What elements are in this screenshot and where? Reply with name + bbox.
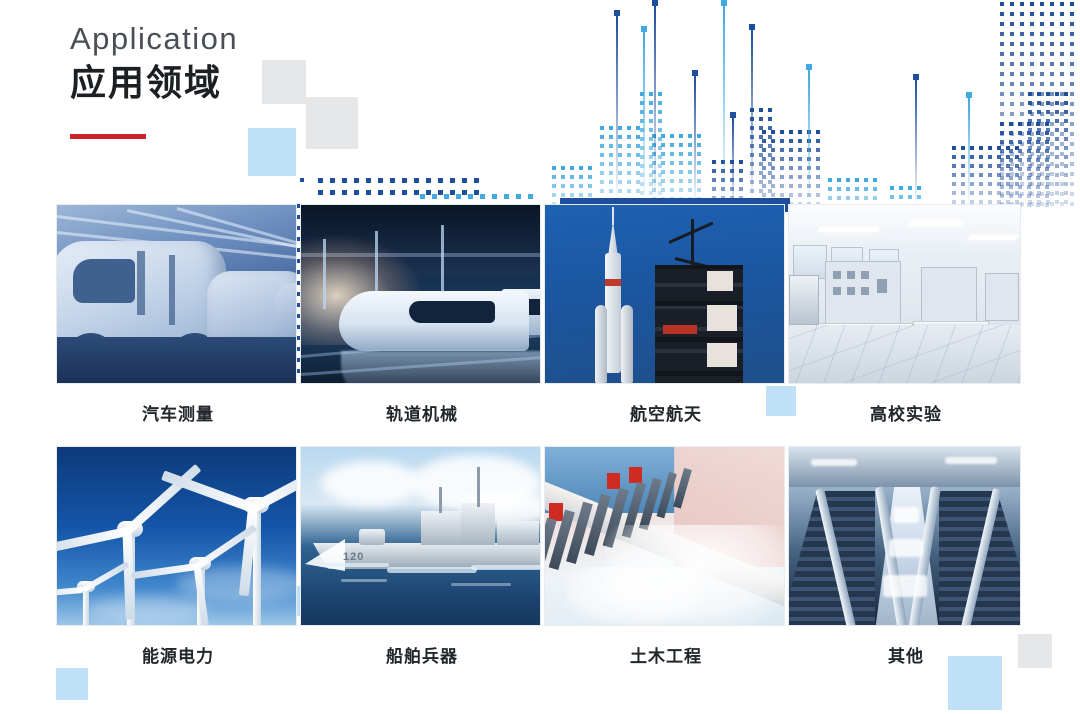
university-laboratory-image	[788, 204, 1021, 384]
skyline-dot-tower	[640, 92, 668, 212]
application-card-energy[interactable]: 能源电力	[56, 446, 300, 667]
card-caption: 轨道机械	[300, 400, 544, 425]
card-row-1: 汽车测量	[56, 204, 1024, 425]
skyline-dot-tower	[762, 130, 822, 212]
deco-square-gray-1	[262, 60, 306, 104]
card-caption: 高校实验	[788, 400, 1024, 425]
skyline-dot-tower	[1000, 122, 1050, 212]
skyline-antenna-spire	[751, 24, 753, 212]
skyline-antenna-spire	[654, 0, 656, 212]
application-card-civil[interactable]: 土木工程	[544, 446, 788, 667]
application-card-car[interactable]: 汽车测量	[56, 204, 300, 425]
skyline-dot-tower	[1028, 92, 1076, 212]
application-card-train[interactable]: 轨道机械	[300, 204, 544, 425]
deco-square-blue-4	[56, 668, 88, 700]
card-caption: 土木工程	[544, 642, 788, 667]
rocket-launch-pad-image	[544, 204, 785, 384]
slide-canvas: Application 应用领域	[0, 0, 1080, 714]
skyline-antenna-spire	[723, 0, 725, 212]
skyline-dot-tower	[652, 134, 708, 212]
card-caption: 汽车测量	[56, 400, 300, 425]
page-title-english: Application	[70, 22, 238, 56]
naval-destroyer-image: 120	[300, 446, 541, 626]
ship-hull-number: 120	[343, 551, 364, 563]
skyline-dot-tower	[1000, 2, 1076, 212]
skyline-dot-tower	[600, 126, 644, 212]
skyline-antenna-spire	[694, 70, 696, 212]
application-card-ship[interactable]: 120 船舶兵器	[300, 446, 544, 667]
skyline-dot-tower	[750, 108, 780, 212]
application-card-other[interactable]: 其他	[788, 446, 1024, 667]
high-speed-train-image	[300, 204, 541, 384]
card-caption: 能源电力	[56, 642, 300, 667]
deco-square-gray-2	[306, 97, 358, 149]
application-card-grid: 汽车测量	[56, 204, 1024, 667]
skyline-antenna-spire	[732, 112, 734, 212]
page-title-chinese: 应用领域	[70, 60, 238, 105]
skyline-dot-tower	[952, 146, 1022, 212]
card-caption: 航空航天	[544, 400, 788, 425]
escalator-image	[788, 446, 1021, 626]
application-card-aerospace[interactable]: 航空航天	[544, 204, 788, 425]
application-card-lab[interactable]: 高校实验	[788, 204, 1024, 425]
skyline-antenna-spire	[968, 92, 970, 212]
page-title-block: Application 应用领域	[70, 22, 238, 139]
card-caption: 其他	[788, 642, 1024, 667]
title-underline-rule	[70, 134, 146, 139]
skyline-antenna-spire	[616, 10, 618, 212]
skyline-antenna-spire	[643, 26, 645, 212]
deco-square-blue-1	[248, 128, 296, 176]
skyline-antenna-spire	[808, 64, 810, 212]
hydroelectric-dam-image	[544, 446, 785, 626]
car-assembly-line-image	[56, 204, 297, 384]
card-row-2: 能源电力	[56, 446, 1024, 667]
skyline-antenna-spire	[915, 74, 917, 212]
wind-turbines-image	[56, 446, 297, 626]
card-caption: 船舶兵器	[300, 642, 544, 667]
